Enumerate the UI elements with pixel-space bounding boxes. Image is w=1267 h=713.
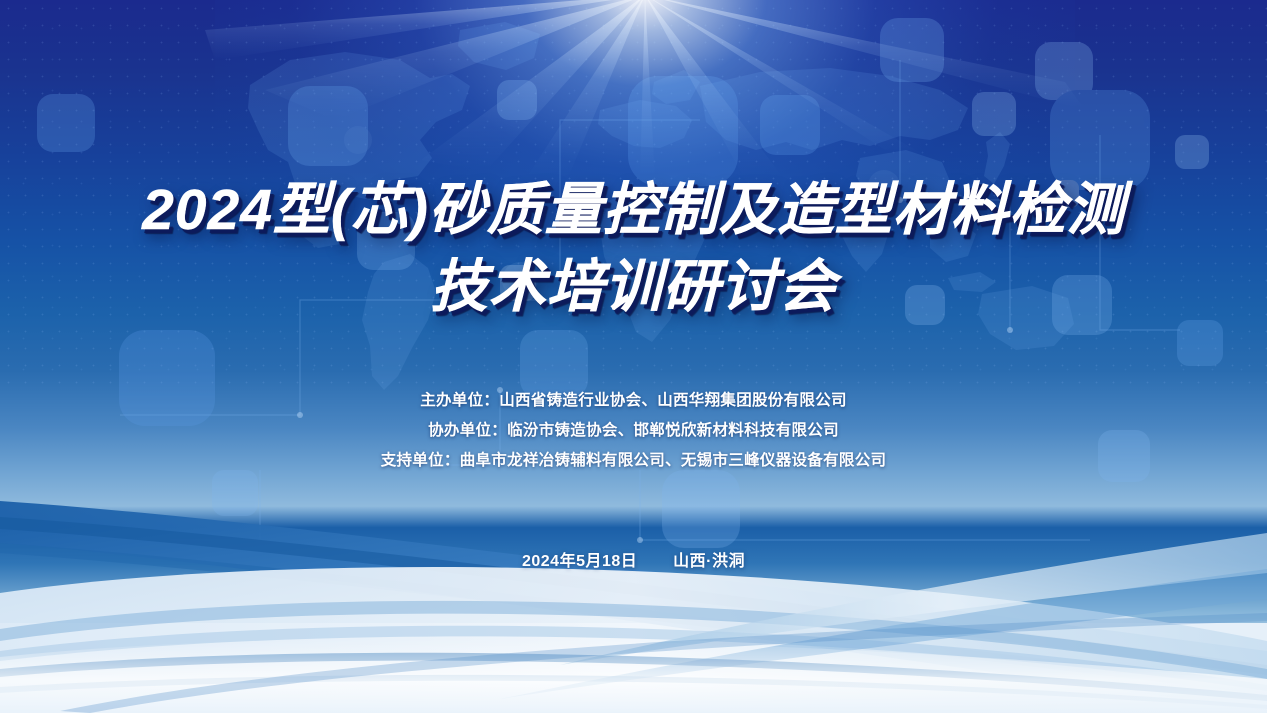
poster-title: 2024型(芯)砂质量控制及造型材料检测 技术培训研讨会 (0, 182, 1267, 316)
event-date: 2024年5月18日 (522, 553, 637, 570)
footer-block: 2024年5月18日 山西·洪洞 (0, 547, 1267, 571)
organizer-supporter: 支持单位：曲阜市龙祥冶铸辅料有限公司、无锡市三峰仪器设备有限公司 (0, 446, 1267, 476)
date-location-line: 2024年5月18日 山西·洪洞 (0, 547, 1267, 571)
conference-poster: 2024型(芯)砂质量控制及造型材料检测 技术培训研讨会 主办单位：山西省铸造行… (0, 0, 1267, 713)
title-line-2: 技术培训研讨会 (0, 259, 1267, 316)
organizer-block: 主办单位：山西省铸造行业协会、山西华翔集团股份有限公司 协办单位：临汾市铸造协会… (0, 386, 1267, 476)
title-line-1: 2024型(芯)砂质量控制及造型材料检测 (0, 182, 1267, 239)
organizer-host: 主办单位：山西省铸造行业协会、山西华翔集团股份有限公司 (0, 386, 1267, 416)
poster-content: 2024型(芯)砂质量控制及造型材料检测 技术培训研讨会 主办单位：山西省铸造行… (0, 0, 1267, 713)
event-location: 山西·洪洞 (673, 553, 745, 570)
organizer-co-host: 协办单位：临汾市铸造协会、邯郸悦欣新材料科技有限公司 (0, 416, 1267, 446)
